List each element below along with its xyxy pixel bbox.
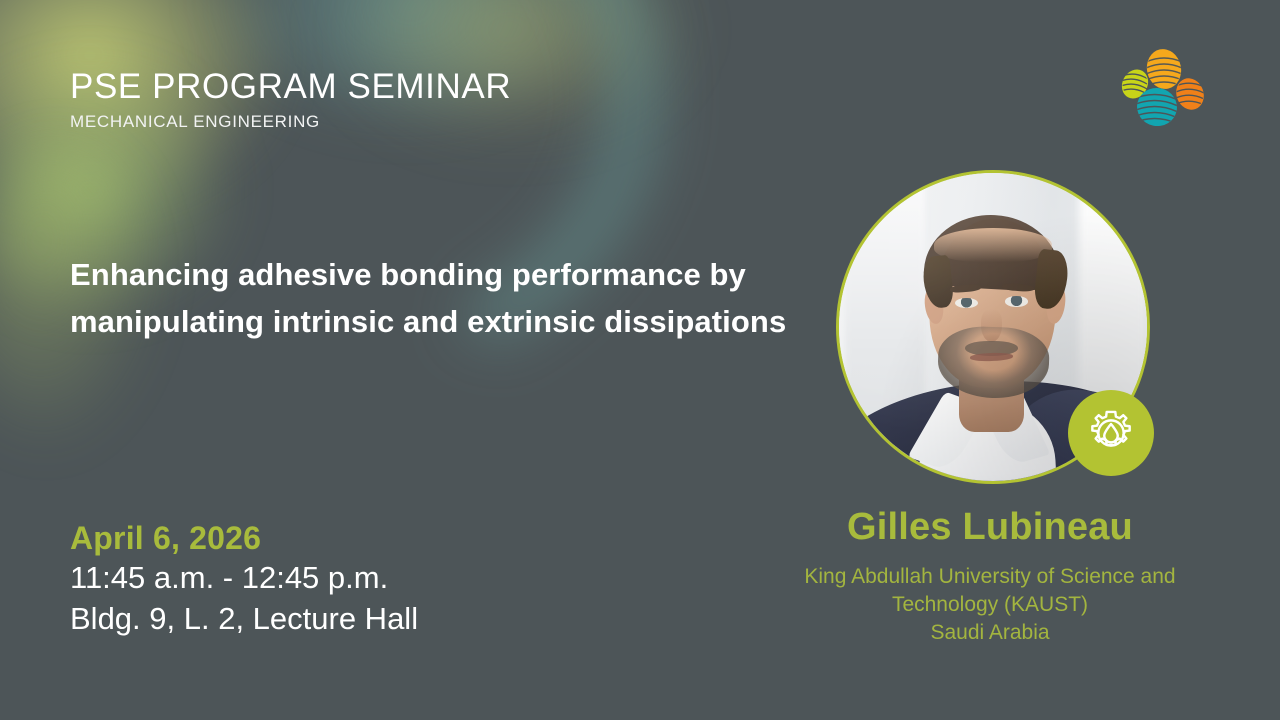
mechanical-engineering-badge bbox=[1068, 390, 1154, 476]
speaker-name: Gilles Lubineau bbox=[760, 505, 1220, 551]
speaker-affiliation: King Abdullah University of Science and … bbox=[760, 563, 1220, 620]
header: PSE PROGRAM SEMINAR MECHANICAL ENGINEERI… bbox=[70, 68, 511, 132]
program-name: MECHANICAL ENGINEERING bbox=[70, 112, 511, 132]
page-title: PSE PROGRAM SEMINAR bbox=[70, 68, 511, 106]
speaker-block: Gilles Lubineau King Abdullah University… bbox=[760, 505, 1220, 648]
event-date: April 6, 2026 bbox=[70, 519, 418, 558]
event-details: April 6, 2026 11:45 a.m. - 12:45 p.m. Bl… bbox=[70, 519, 418, 640]
speaker-photo-container bbox=[836, 170, 1150, 484]
speaker-country: Saudi Arabia bbox=[760, 619, 1220, 647]
seminar-title: Enhancing adhesive bonding performance b… bbox=[70, 252, 790, 345]
event-time: 11:45 a.m. - 12:45 p.m. bbox=[70, 558, 418, 599]
event-location: Bldg. 9, L. 2, Lecture Hall bbox=[70, 599, 418, 640]
gear-droplet-icon bbox=[1081, 403, 1141, 463]
kaust-logo bbox=[1116, 46, 1208, 130]
